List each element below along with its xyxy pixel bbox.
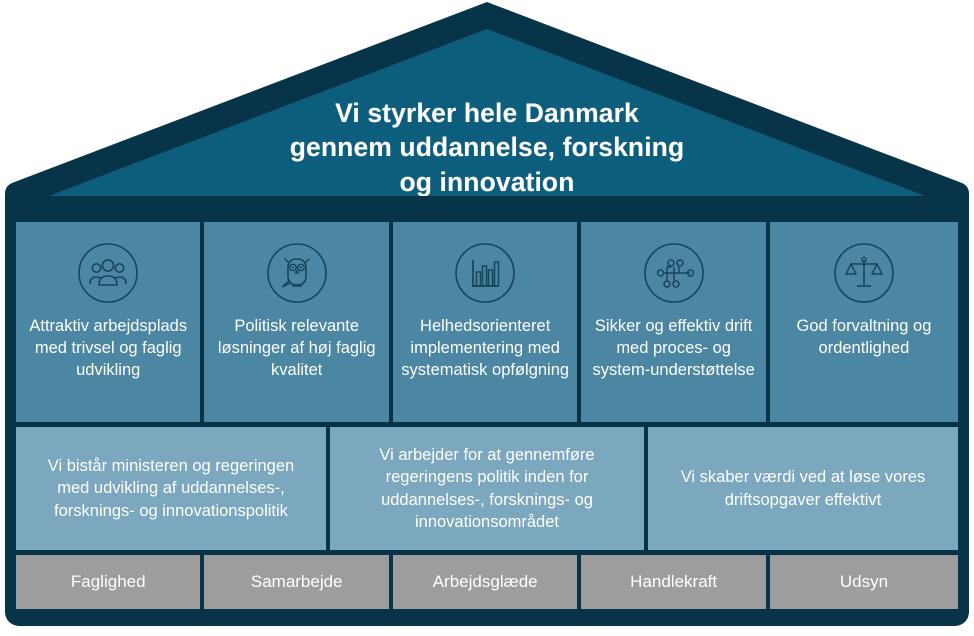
owl-icon: [266, 242, 328, 304]
strategy-house-diagram: Vi styrker hele Danmark gennem uddannels…: [0, 0, 974, 636]
value-chip-faglighed[interactable]: Faglighed: [16, 555, 200, 609]
value-chip-handlekraft[interactable]: Handlekraft: [581, 555, 765, 609]
pillars-row: Attraktiv arbejdsplads med trivsel og fa…: [16, 222, 958, 422]
pillar-card-helhedsorienteret-implementering[interactable]: Helhedsorienteret implementering med sys…: [393, 222, 577, 422]
house-content: Attraktiv arbejdsplads med trivsel og fa…: [16, 222, 958, 618]
roof-title-line-1: Vi styrker hele Danmark: [0, 96, 974, 130]
mission-block-politikudvikling[interactable]: Vi bistår ministeren og regeringen med u…: [16, 427, 326, 550]
pillar-card-god-forvaltning[interactable]: God forvaltning og ordentlighed: [770, 222, 958, 422]
value-chip-arbejdsglaede[interactable]: Arbejdsglæde: [393, 555, 577, 609]
pillar-label: God forvaltning og ordentlighed: [770, 316, 958, 360]
roof-title: Vi styrker hele Danmark gennem uddannels…: [0, 96, 974, 199]
roof-title-line-2: gennem uddannelse, forskning: [0, 130, 974, 164]
pillar-label: Helhedsorienteret implementering med sys…: [393, 316, 577, 381]
roof: Vi styrker hele Danmark gennem uddannels…: [0, 0, 974, 215]
network-nodes-icon: [643, 242, 705, 304]
scales-balance-icon: [833, 242, 895, 304]
pillar-label: Attraktiv arbejdsplads med trivsel og fa…: [16, 316, 200, 381]
values-row: Faglighed Samarbejde Arbejdsglæde Handle…: [16, 555, 958, 609]
people-group-icon: [77, 242, 139, 304]
pillar-card-attraktiv-arbejdsplads[interactable]: Attraktiv arbejdsplads med trivsel og fa…: [16, 222, 200, 422]
bar-chart-icon: [454, 242, 516, 304]
value-chip-samarbejde[interactable]: Samarbejde: [204, 555, 388, 609]
value-chip-udsyn[interactable]: Udsyn: [770, 555, 958, 609]
roof-title-line-3: og innovation: [0, 165, 974, 199]
pillar-label: Politisk relevante løsninger af høj fagl…: [204, 316, 388, 381]
pillar-label: Sikker og effektiv drift med proces- og …: [581, 316, 765, 381]
missions-row: Vi bistår ministeren og regeringen med u…: [16, 427, 958, 550]
mission-block-drift[interactable]: Vi skaber værdi ved at løse vores drifts…: [648, 427, 958, 550]
pillar-card-politisk-relevante-loesninger[interactable]: Politisk relevante løsninger af høj fagl…: [204, 222, 388, 422]
mission-block-politikgennemfoerelse[interactable]: Vi arbejder for at gennemføre regeringen…: [330, 427, 644, 550]
pillar-card-sikker-og-effektiv-drift[interactable]: Sikker og effektiv drift med proces- og …: [581, 222, 765, 422]
